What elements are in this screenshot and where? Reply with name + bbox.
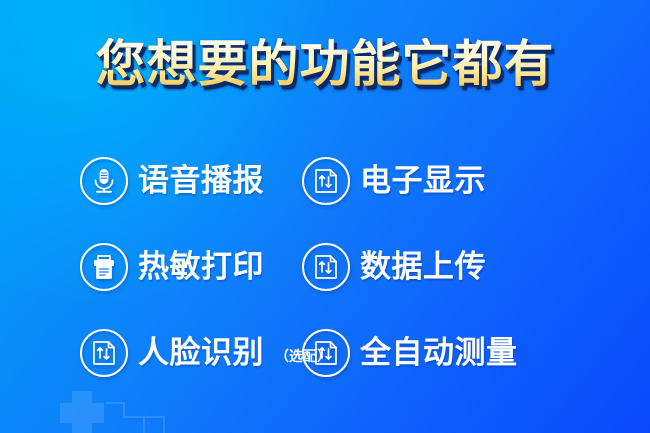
feature-label: 全自动测量 (360, 338, 518, 369)
feature-item-data-upload[interactable]: 数据上传 (294, 243, 650, 291)
feature-label: 热敏打印 (138, 252, 264, 283)
feature-item-voice-broadcast[interactable]: 语音播报 (0, 157, 294, 205)
promo-poster: 您想要的功能它都有 语音播报 (0, 0, 650, 433)
feature-item-electronic-display[interactable]: 电子显示 (294, 157, 650, 205)
thermal-printer-icon (80, 243, 128, 291)
feature-label: 数据上传 (360, 252, 486, 283)
feature-item-auto-measure[interactable]: 全自动测量 (294, 329, 650, 377)
feature-item-thermal-print[interactable]: 热敏打印 (0, 243, 294, 291)
feature-label: 人脸识别 (138, 338, 264, 369)
auto-measure-icon (302, 329, 350, 377)
electronic-display-icon (302, 157, 350, 205)
feature-label: 语音播报 (138, 166, 264, 197)
page-title: 您想要的功能它都有 (96, 38, 555, 90)
feature-label: 电子显示 (360, 166, 486, 197)
headline-wrap: 您想要的功能它都有 (0, 38, 650, 90)
medical-cross-circuit-pattern (44, 391, 194, 433)
feature-item-face-recognition[interactable]: 人脸识别 （选配） (0, 329, 294, 377)
feature-grid: 语音播报 电子显示 (0, 138, 650, 396)
data-upload-icon (302, 243, 350, 291)
microphone-icon (80, 157, 128, 205)
face-recognition-icon (80, 329, 128, 377)
